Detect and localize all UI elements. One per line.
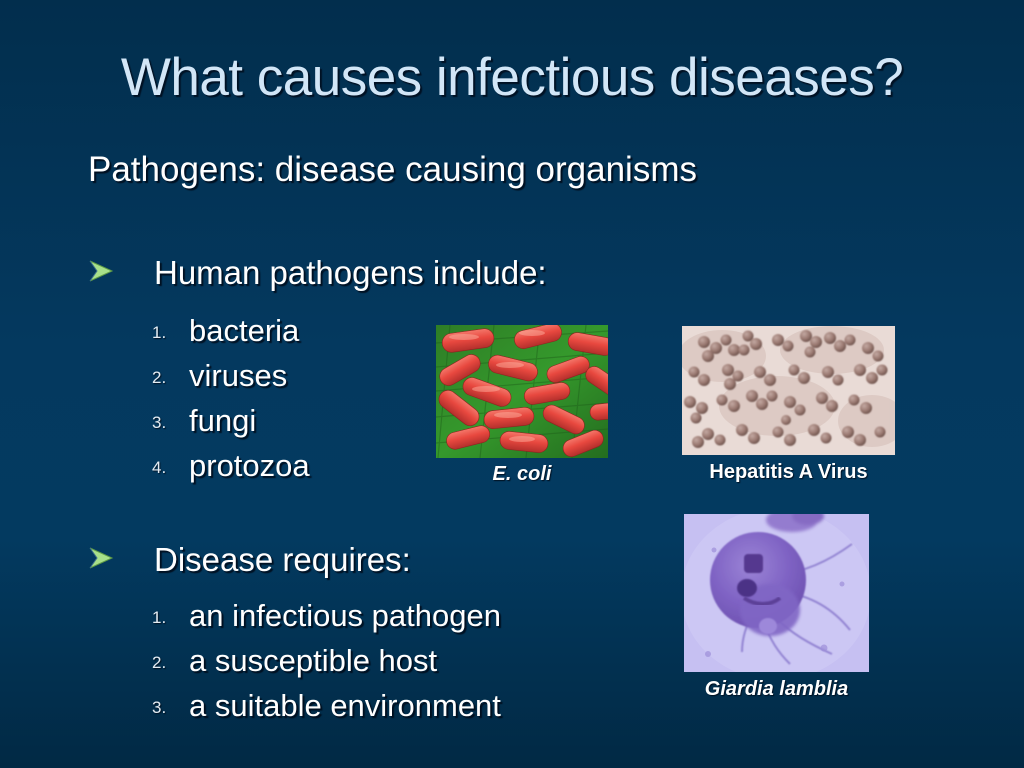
list-item-label: a suitable environment (189, 685, 501, 727)
bullet-heading-label: Disease requires: (154, 539, 411, 581)
arrow-bullet-icon (88, 258, 116, 284)
page-title: What causes infectious diseases? (0, 48, 1024, 108)
list-item-number: 2. (152, 653, 166, 673)
figure-caption-giardia: Giardia lamblia (684, 677, 869, 701)
list-item-label: fungi (189, 400, 256, 442)
ecoli-micrograph-image (436, 325, 608, 458)
list-item-label: viruses (189, 355, 287, 397)
hepatitis-a-micrograph-image (682, 326, 895, 455)
arrow-bullet-icon (88, 545, 116, 571)
figure-ecoli: E. coli (436, 325, 608, 458)
list-item-label: bacteria (189, 310, 299, 352)
bullet-heading-label: Human pathogens include: (154, 252, 547, 294)
figure-caption-ecoli: E. coli (436, 462, 608, 486)
figure-hepatitis-a-virus: Hepatitis A Virus (682, 326, 895, 455)
list-item-number: 3. (152, 698, 166, 718)
list-item-label: an infectious pathogen (189, 595, 501, 637)
list-item-label: protozoa (189, 445, 310, 487)
list-item-number: 1. (152, 608, 166, 628)
list-item-number: 2. (152, 368, 166, 388)
figure-giardia-lamblia: Giardia lamblia (684, 514, 869, 672)
giardia-micrograph-image (684, 514, 869, 672)
list-item-number: 3. (152, 413, 166, 433)
slide-subtitle: Pathogens: disease causing organisms (88, 149, 697, 191)
list-item-label: a susceptible host (189, 640, 437, 682)
slide-canvas: What causes infectious diseases? Pathoge… (0, 0, 1024, 768)
list-item-number: 4. (152, 458, 166, 478)
figure-caption-hepatitis: Hepatitis A Virus (682, 460, 895, 484)
list-item-number: 1. (152, 323, 166, 343)
